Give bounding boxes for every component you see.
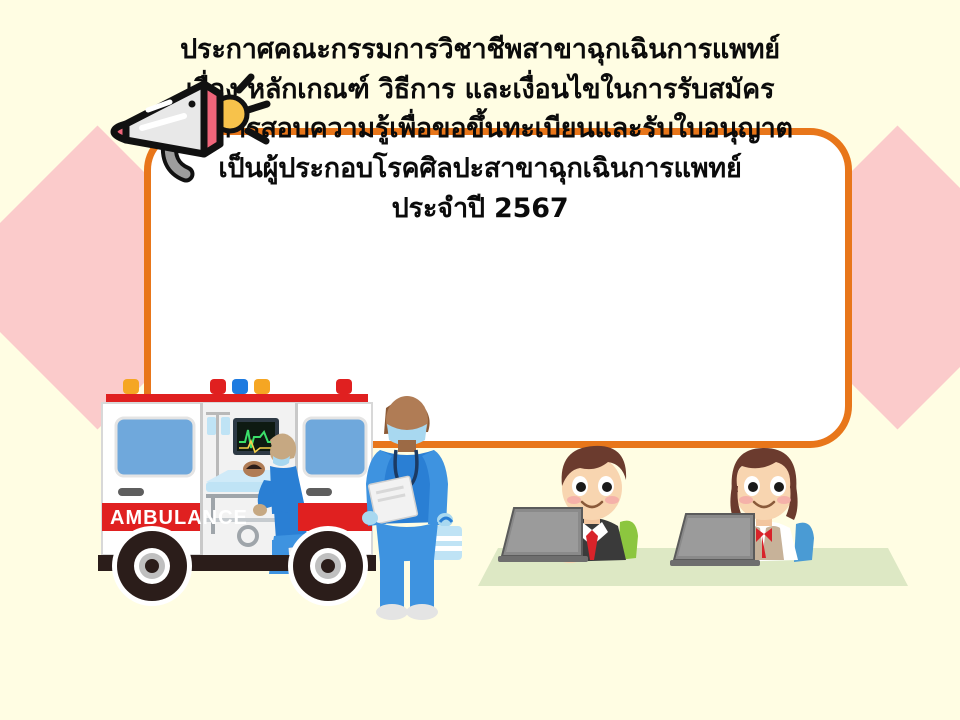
doctor-leg-right <box>410 558 434 608</box>
doctor-leg-left <box>380 558 404 608</box>
doctor-trousers-top <box>376 522 438 562</box>
man-eye-right <box>602 482 612 492</box>
ambulance-window-left <box>116 418 194 476</box>
office-workers-illustration <box>478 430 908 630</box>
doctor-shoe-left <box>376 604 408 620</box>
megaphone-dot <box>189 101 196 108</box>
man-laptop <box>498 508 588 562</box>
ambulance-light-bar <box>106 379 368 403</box>
woman-eye-right <box>774 482 784 492</box>
announcement-line-5: ประจำปี 2567 <box>0 189 960 229</box>
megaphone-rear-cap <box>114 124 126 140</box>
ambulance-label: AMBULANCE <box>110 507 248 529</box>
interior-divider-left <box>200 403 203 555</box>
doctor-neck <box>398 440 416 452</box>
doctor-glove-left <box>362 511 378 525</box>
doctor-shoe-right <box>406 604 438 620</box>
doctor-figure <box>352 388 462 628</box>
woman-laptop <box>670 514 760 566</box>
man-eye-left <box>576 482 586 492</box>
woman-with-laptop <box>670 448 814 566</box>
announcement-poster: ประกาศคณะกรรมการวิชาชีพสาขาฉุกเฉินการแพท… <box>0 0 960 720</box>
megaphone-icon <box>108 62 283 192</box>
megaphone-cone <box>204 84 220 154</box>
woman-eye-left <box>748 482 758 492</box>
ambulance-wheel-front <box>112 526 192 606</box>
door-handle-right <box>306 488 332 496</box>
door-handle-left <box>118 488 144 496</box>
man-with-laptop <box>498 446 638 563</box>
